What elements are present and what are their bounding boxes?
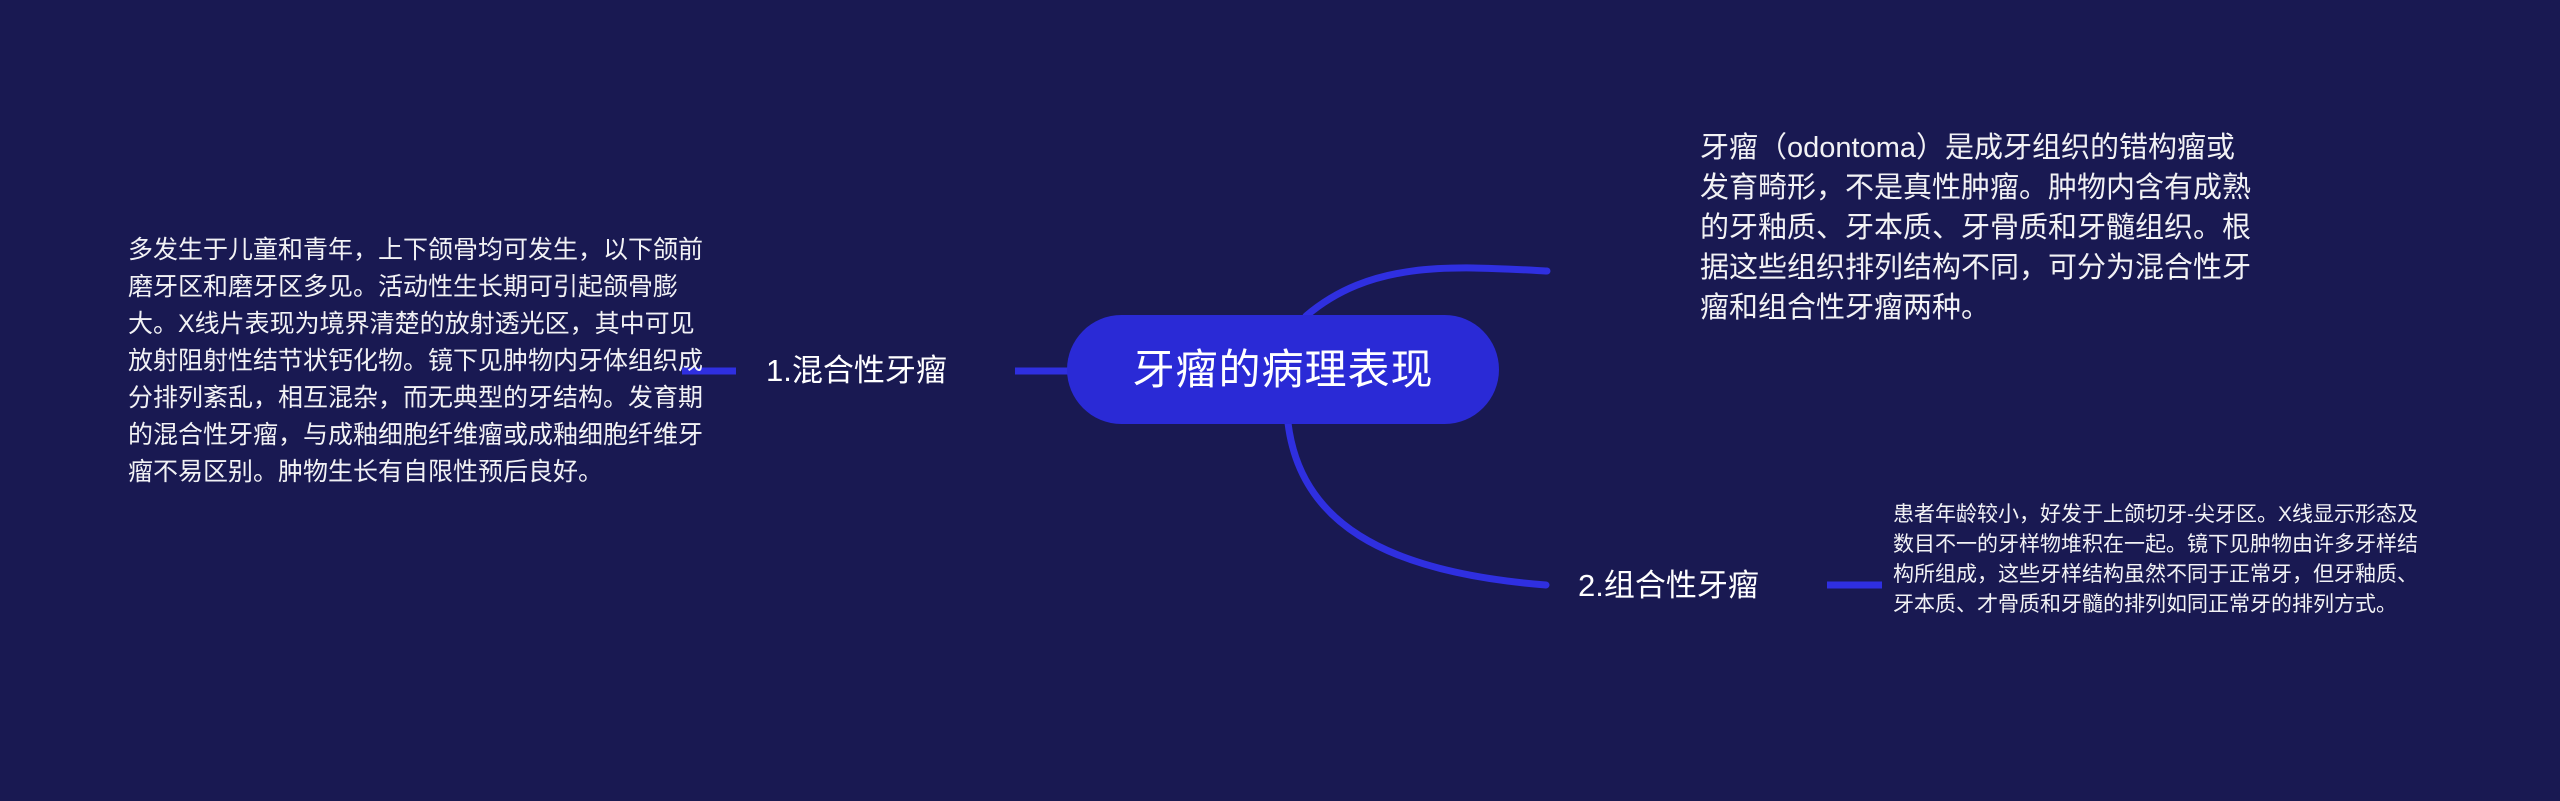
root-node[interactable]: 牙瘤的病理表现 — [1067, 315, 1499, 424]
detail-text-mixed-odontoma: 多发生于儿童和青年，上下颌骨均可发生，以下颌前磨牙区和磨牙区多见。活动性生长期可… — [128, 232, 708, 491]
branch-label-mixed-odontoma[interactable]: 1.混合性牙瘤 — [766, 355, 947, 386]
detail-text-overview: 牙瘤（odontoma）是成牙组织的错构瘤或发育畸形，不是真性肿瘤。肿物内含有成… — [1700, 128, 2260, 328]
edge-root-to-branch2 — [1288, 423, 1546, 585]
detail-text-compound-odontoma: 患者年龄较小，好发于上颌切牙-尖牙区。X线显示形态及数目不一的牙样物堆积在一起。… — [1893, 500, 2438, 620]
branch-label-compound-odontoma[interactable]: 2.组合性牙瘤 — [1578, 570, 1759, 601]
edge-root-to-overview — [1306, 268, 1547, 316]
mindmap-canvas: 牙瘤的病理表现 1.混合性牙瘤 2.组合性牙瘤 多发生于儿童和青年，上下颌骨均可… — [0, 0, 2560, 801]
root-node-label: 牙瘤的病理表现 — [1132, 349, 1433, 391]
